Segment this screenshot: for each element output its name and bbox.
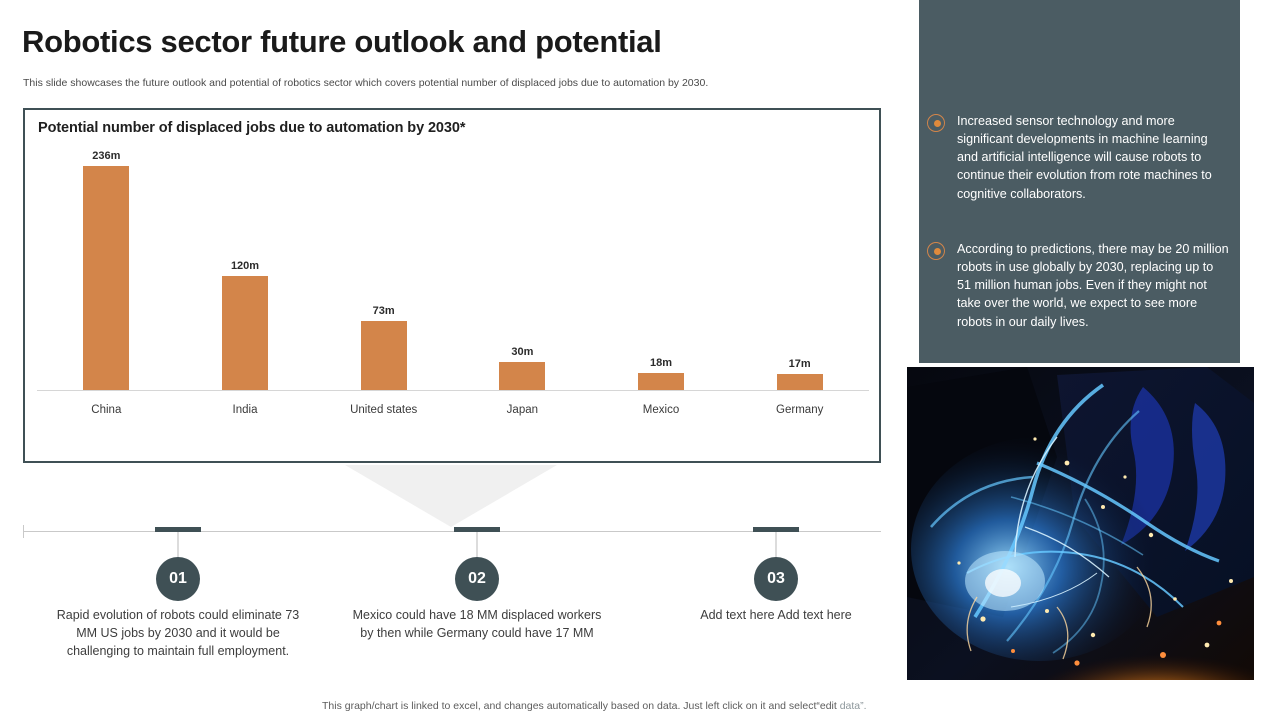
- x-axis-tick-label: Mexico: [592, 404, 731, 416]
- page-title: Robotics sector future outlook and poten…: [22, 24, 662, 60]
- step-description: Rapid evolution of robots could eliminat…: [53, 607, 303, 660]
- bar-item: 120m: [176, 148, 315, 390]
- down-chevron-icon: [345, 465, 557, 527]
- x-axis-tick-labels: ChinaIndiaUnited statesJapanMexicoGerman…: [37, 404, 869, 416]
- bar-value-label: 17m: [789, 359, 811, 370]
- insight-text: Increased sensor technology and more sig…: [951, 112, 1229, 203]
- bullet-dot-icon: [933, 242, 951, 260]
- footer-note: This graph/chart is linked to excel, and…: [322, 700, 867, 712]
- bar-rect: [222, 276, 268, 390]
- footer-note-main: This graph/chart is linked to excel, and…: [322, 700, 816, 712]
- x-axis-tick-label: Germany: [730, 404, 869, 416]
- x-axis-tick-label: India: [176, 404, 315, 416]
- timeline-start-tick: [23, 525, 24, 538]
- bar-item: 73m: [314, 148, 453, 390]
- step-description: Mexico could have 18 MM displaced worker…: [352, 607, 602, 643]
- bar-item: 17m: [730, 148, 869, 390]
- insight-item: Increased sensor technology and more sig…: [933, 112, 1229, 203]
- chart-card: Potential number of displaced jobs due t…: [23, 108, 881, 463]
- bar-rect: [777, 374, 823, 390]
- bar-item: 30m: [453, 148, 592, 390]
- bar-value-label: 18m: [650, 358, 672, 369]
- step-number-badge: 01: [156, 557, 200, 601]
- page-subtitle: This slide showcases the future outlook …: [23, 77, 708, 89]
- bar-item: 236m: [37, 148, 176, 390]
- x-axis-line: [37, 390, 869, 391]
- x-axis-tick-label: Japan: [453, 404, 592, 416]
- bar-rect: [83, 166, 129, 390]
- bar-rect: [638, 373, 684, 390]
- bar-chart-plot: 236m120m73m30m18m17m ChinaIndiaUnited st…: [37, 148, 869, 424]
- bar-item: 18m: [592, 148, 731, 390]
- insight-text: According to predictions, there may be 2…: [951, 240, 1229, 331]
- bar-value-label: 73m: [373, 306, 395, 317]
- insight-item: According to predictions, there may be 2…: [933, 240, 1229, 331]
- bullet-dot-icon: [933, 114, 951, 132]
- bar-value-label: 30m: [511, 347, 533, 358]
- x-axis-tick-label: China: [37, 404, 176, 416]
- bar-rect: [499, 362, 545, 390]
- step-number-badge: 03: [754, 557, 798, 601]
- footer-note-dim: data”.: [840, 700, 867, 712]
- insights-panel: Increased sensor technology and more sig…: [919, 0, 1240, 363]
- bar-value-label: 236m: [92, 151, 120, 162]
- bar-value-label: 120m: [231, 261, 259, 272]
- x-axis-tick-label: United states: [314, 404, 453, 416]
- slide: Robotics sector future outlook and poten…: [0, 0, 1280, 720]
- step-number-badge: 02: [455, 557, 499, 601]
- footer-note-quoted: “edit: [816, 700, 839, 712]
- chart-title: Potential number of displaced jobs due t…: [38, 120, 465, 136]
- welding-sparks-photo: [907, 367, 1254, 680]
- bar-rect: [361, 321, 407, 390]
- bar-series: 236m120m73m30m18m17m: [37, 148, 869, 390]
- step-description: Add text here Add text here: [651, 607, 901, 625]
